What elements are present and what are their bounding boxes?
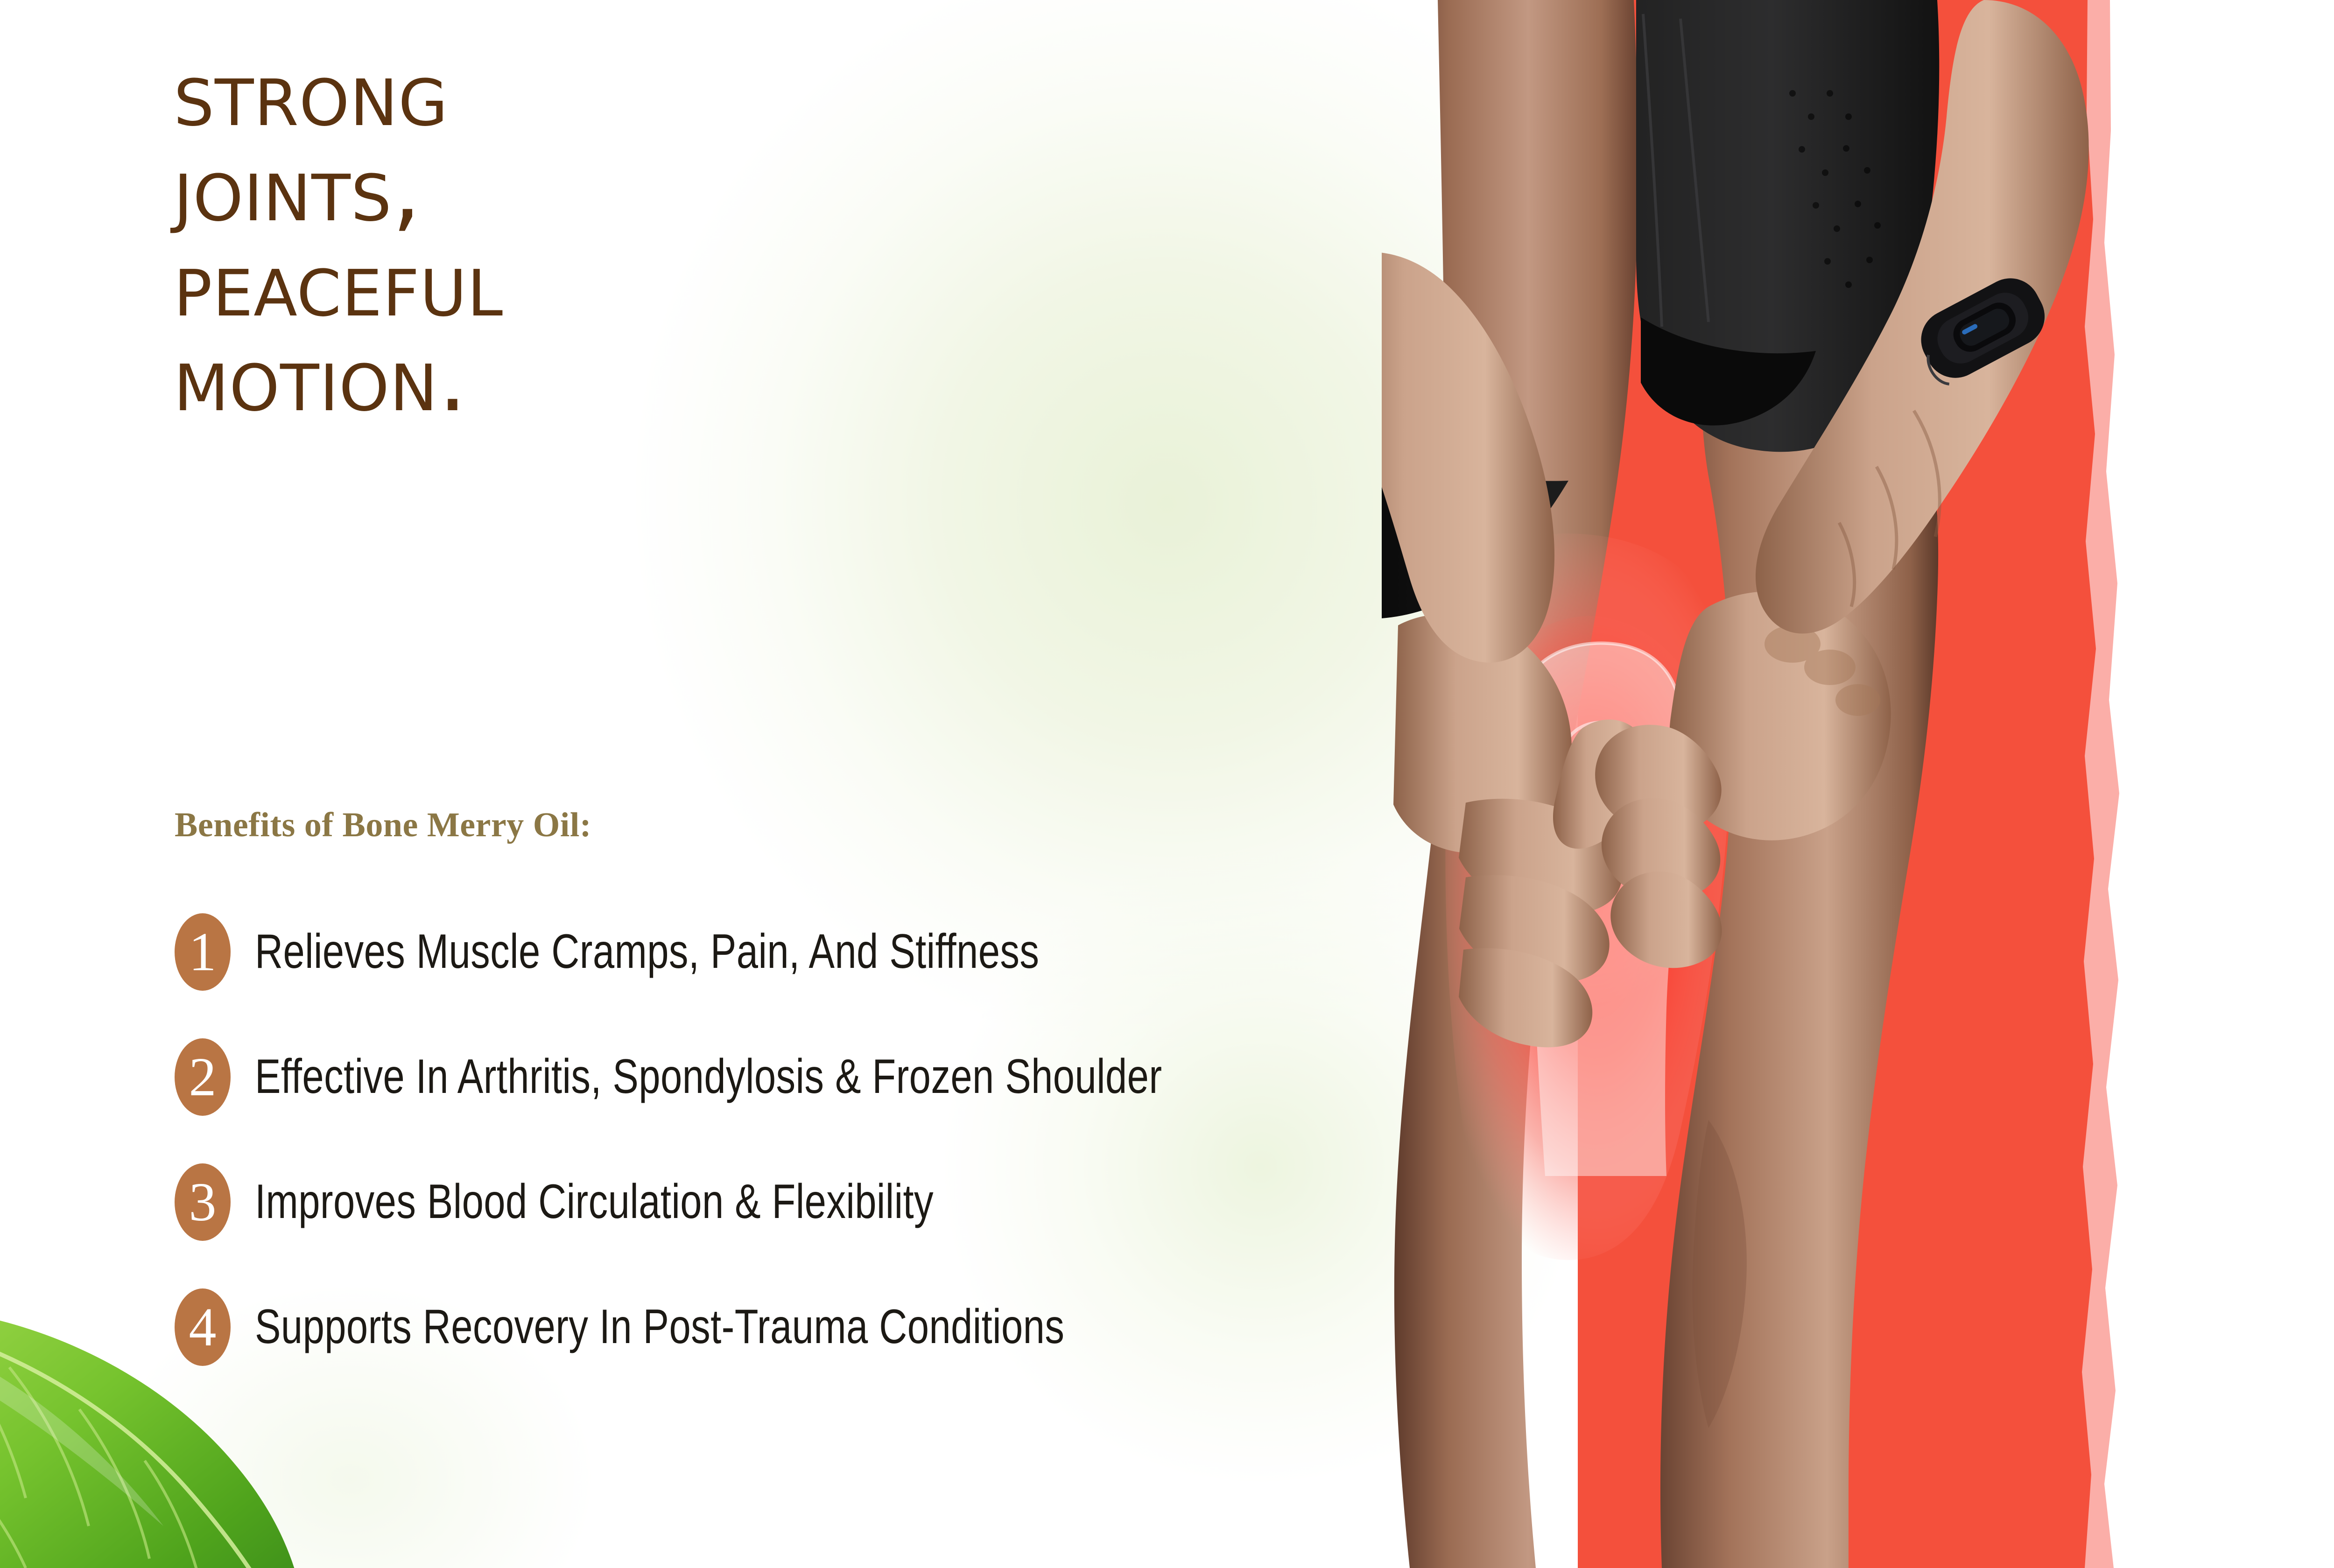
benefit-number-badge: 3 [175, 1163, 231, 1241]
benefits-heading: Benefits of Bone Merry Oil: [175, 805, 591, 845]
benefit-number-badge: 4 [175, 1288, 231, 1366]
headline-line-1: strong [174, 47, 1201, 142]
list-item: 1 Relieves Muscle Cramps, Pain, And Stif… [175, 889, 1575, 1015]
list-item: 4 Supports Recovery In Post-Trauma Condi… [175, 1265, 1575, 1390]
benefit-label: Improves Blood Circulation & Flexibility [255, 1176, 934, 1227]
benefit-label: Effective In Arthritis, Spondylosis & Fr… [255, 1051, 1162, 1102]
benefit-label: Relieves Muscle Cramps, Pain, And Stiffn… [255, 926, 1039, 977]
benefit-number-badge: 2 [175, 1038, 231, 1116]
list-item: 2 Effective In Arthritis, Spondylosis & … [175, 1015, 1575, 1140]
page-title: strong joints, peaceful motion. [174, 47, 1201, 427]
headline-line-3: peaceful [174, 237, 1201, 332]
headline-line-4: motion. [174, 332, 1201, 427]
right-hand-fingers [1595, 725, 1722, 968]
benefit-label: Supports Recovery In Post-Trauma Conditi… [255, 1302, 1064, 1352]
benefit-number-badge: 1 [175, 913, 231, 991]
benefits-list: 1 Relieves Muscle Cramps, Pain, And Stif… [175, 889, 1575, 1390]
promo-banner: strong joints, peaceful motion. Benefits… [0, 0, 2334, 1568]
headline-line-2: joints, [174, 142, 1201, 237]
list-item: 3 Improves Blood Circulation & Flexibili… [175, 1140, 1575, 1265]
